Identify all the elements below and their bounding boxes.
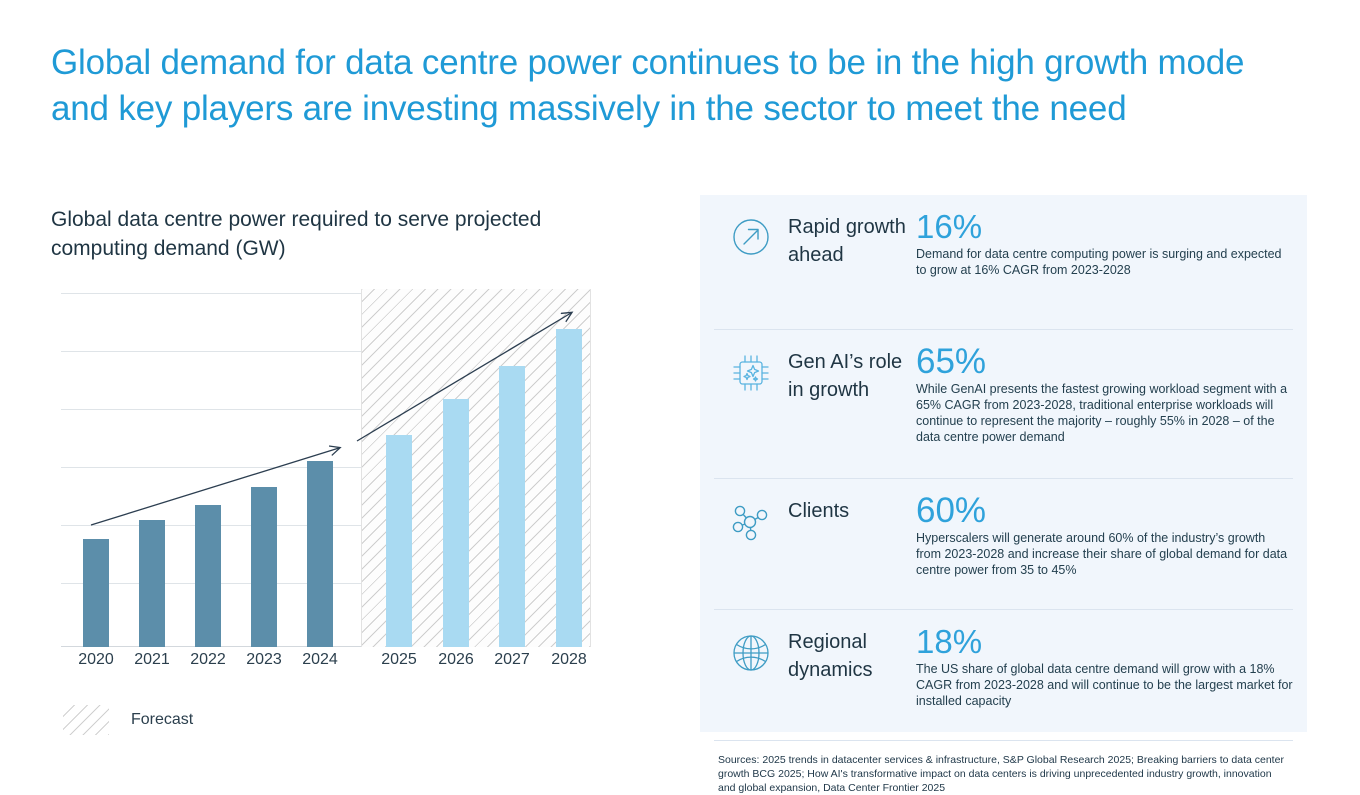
insight-card-list: Rapid growth ahead 16% Demand for data c… (700, 195, 1307, 741)
x-tick-2023: 2023 (238, 651, 290, 669)
insight-heading: Clients (788, 493, 906, 525)
insight-stat: 65% (916, 344, 1293, 380)
insight-body: 18% The US share of global data centre d… (906, 624, 1293, 709)
x-tick-2020: 2020 (70, 651, 122, 669)
bar-2026 (443, 399, 469, 647)
x-tick-2025: 2025 (373, 651, 425, 669)
x-tick-2026: 2026 (430, 651, 482, 669)
bar-2022 (195, 505, 221, 647)
insight-text: Hyperscalers will generate around 60% of… (916, 530, 1293, 578)
x-tick-2024: 2024 (294, 651, 346, 669)
chart-bars (61, 289, 591, 647)
globe-icon (714, 624, 788, 676)
insight-card-gen-ai[interactable]: Gen AI’s role in growth 65% While GenAI … (714, 330, 1293, 479)
bar-2027 (499, 366, 525, 647)
legend-label-forecast: Forecast (131, 711, 193, 729)
insight-text: Demand for data centre computing power i… (916, 246, 1293, 278)
insight-card-rapid-growth[interactable]: Rapid growth ahead 16% Demand for data c… (714, 195, 1293, 330)
bar-2025 (386, 435, 412, 647)
insight-body: 16% Demand for data centre computing pow… (906, 209, 1293, 278)
chart-plot-area (61, 289, 591, 647)
insight-stat: 60% (916, 493, 1293, 529)
bar-2021 (139, 520, 165, 647)
insight-card-clients[interactable]: Clients 60% Hyperscalers will generate a… (714, 479, 1293, 610)
insight-text: While GenAI presents the fastest growing… (916, 381, 1293, 445)
x-tick-2028: 2028 (543, 651, 595, 669)
chart-panel: Global data centre power required to ser… (51, 205, 651, 649)
insight-stat: 18% (916, 624, 1293, 660)
insight-body: 60% Hyperscalers will generate around 60… (906, 493, 1293, 578)
chart-legend: Forecast (63, 705, 193, 735)
insight-body: 65% While GenAI presents the fastest gro… (906, 344, 1293, 445)
bar-chart: 2020 2021 2022 2023 2024 2025 2026 2027 … (51, 289, 591, 649)
insight-stat: 16% (916, 209, 1293, 245)
insight-heading: Rapid growth ahead (788, 209, 906, 269)
bar-2023 (251, 487, 277, 647)
insight-card-regional-dynamics[interactable]: Regional dynamics 18% The US share of gl… (714, 610, 1293, 741)
insight-text: The US share of global data centre deman… (916, 661, 1293, 709)
chart-x-axis: 2020 2021 2022 2023 2024 2025 2026 2027 … (61, 651, 591, 677)
network-nodes-icon (714, 493, 788, 545)
x-tick-2021: 2021 (126, 651, 178, 669)
arrow-up-right-circle-icon (714, 209, 788, 259)
insights-panel: Rapid growth ahead 16% Demand for data c… (700, 195, 1307, 732)
page-title: Global demand for data centre power cont… (51, 40, 1271, 132)
bar-2024 (307, 461, 333, 647)
bar-2028 (556, 329, 582, 647)
x-tick-2022: 2022 (182, 651, 234, 669)
ai-chip-icon (714, 344, 788, 396)
chart-subtitle: Global data centre power required to ser… (51, 205, 591, 263)
bar-2020 (83, 539, 109, 647)
x-tick-2027: 2027 (486, 651, 538, 669)
insight-heading: Gen AI’s role in growth (788, 344, 906, 404)
insight-heading: Regional dynamics (788, 624, 906, 684)
sources-note: Sources: 2025 trends in datacenter servi… (700, 741, 1307, 795)
forecast-hatch-swatch (63, 705, 109, 735)
